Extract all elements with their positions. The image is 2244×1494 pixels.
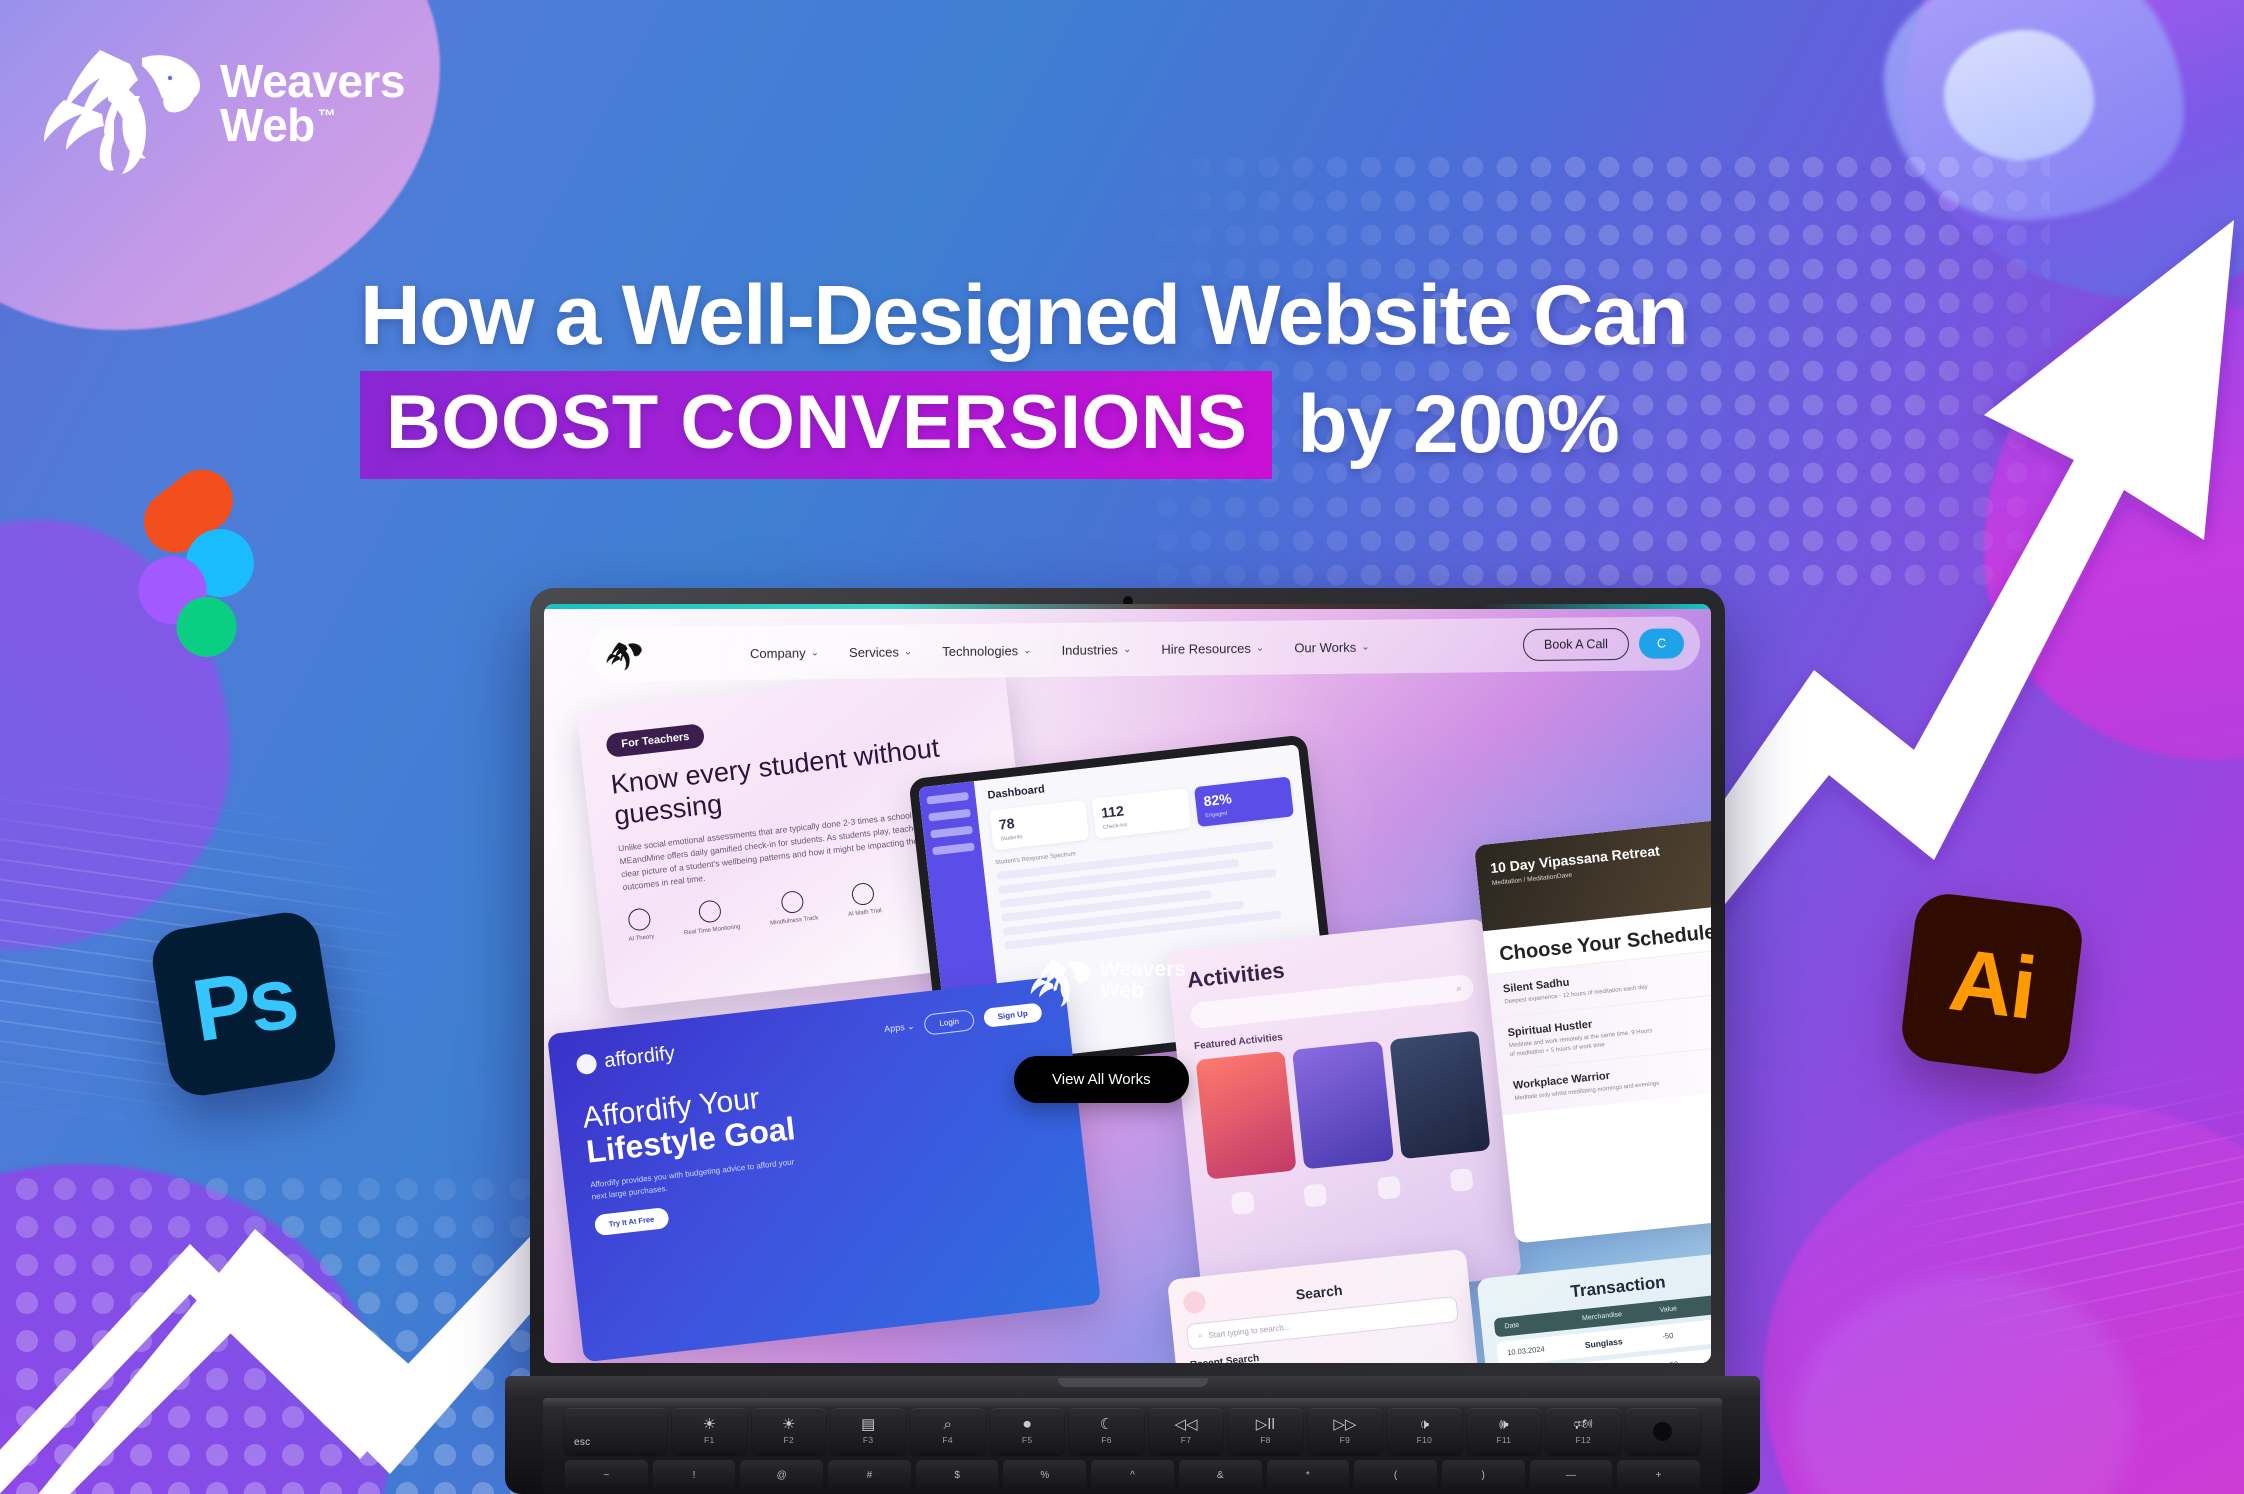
site-watermark-logo: Weavers Web™ (1030, 952, 1186, 1008)
laptop-lid: For Teachers Know every student without … (530, 588, 1725, 1383)
nav-label: Company (750, 645, 806, 661)
key-6[interactable]: ^ (1091, 1460, 1174, 1490)
contact-button[interactable]: C (1639, 628, 1684, 658)
chevron-down-icon: ⌄ (1361, 641, 1370, 652)
mockup-activities-card: Activities ⌕ Featured Activities (1166, 918, 1522, 1309)
key-minus[interactable]: — (1530, 1460, 1613, 1490)
affordify-cta-button[interactable]: Try It At Free (594, 1207, 669, 1236)
laptop-keyboard: esc ☀ F1 ☀ F2 ▤ F3 ⌕ (543, 1398, 1722, 1494)
key-5[interactable]: % (1003, 1460, 1086, 1490)
mindfulness-icon (780, 890, 804, 914)
feature-label: Mindfulness Track (770, 916, 819, 927)
nav-item-company[interactable]: Company ⌄ (750, 645, 819, 661)
key-power[interactable] (1626, 1408, 1700, 1454)
headline-line-2: BOOST CONVERSIONS by 200% (360, 371, 1960, 479)
stat-value: 82% (1203, 790, 1233, 809)
feature-item: Mindfulness Track (767, 889, 819, 927)
watermark-line1: Weavers (1100, 959, 1186, 980)
key-f12[interactable]: 🕬 F12 (1546, 1408, 1620, 1454)
key-label: F2 (783, 1436, 794, 1445)
affordify-brand-name: affordify (603, 1042, 676, 1073)
affordify-brand: affordify (575, 1042, 676, 1076)
photoshop-icon: Ps (148, 908, 340, 1100)
feature-item: AI Math Trial (845, 882, 882, 919)
key-1[interactable]: ! (653, 1460, 736, 1490)
key-f6[interactable]: ☾ F6 (1069, 1408, 1143, 1454)
ai-theory-icon (627, 908, 651, 932)
key-label: F9 (1340, 1436, 1351, 1445)
nav-item-technologies[interactable]: Technologies ⌄ (942, 643, 1031, 659)
tab-saved-icon[interactable] (1377, 1176, 1401, 1200)
banner-canvas: Weavers Web ™ How a Well-Designed Websit… (0, 0, 2244, 1494)
stat-card: 78 Students (989, 800, 1089, 851)
stat-value: 78 (998, 815, 1015, 833)
key-2[interactable]: @ (740, 1460, 823, 1490)
spotlight-search-icon: ⌕ (943, 1417, 951, 1433)
transaction-value: +50 (1665, 1353, 1711, 1363)
rewind-icon: ◁◁ (1174, 1417, 1197, 1433)
feature-label: AI Math Trial (848, 908, 882, 918)
nav-label: Hire Resources (1161, 640, 1251, 656)
nav-label: Technologies (942, 643, 1018, 659)
decorative-blob-top-right-pale (1944, 30, 2094, 160)
key-7[interactable]: & (1179, 1460, 1262, 1490)
search-icon: ⌕ (1456, 983, 1462, 994)
activities-card-grid (1196, 1031, 1491, 1180)
activity-card[interactable] (1196, 1051, 1297, 1180)
affordify-nav: Apps ⌄ Login Sign Up (883, 1001, 1043, 1040)
key-f4[interactable]: ⌕ F4 (910, 1408, 984, 1454)
chat-icon (698, 900, 722, 924)
brand-logo: Weavers Web ™ (42, 34, 405, 174)
stat-value: 112 (1100, 802, 1124, 820)
mockup-affordify-card: affordify Apps ⌄ Login Sign Up Affordify… (547, 976, 1101, 1363)
nav-label: Our Works (1294, 639, 1356, 655)
nav-label: Services (849, 644, 899, 660)
search-placeholder: Start typing to search... (1208, 1322, 1291, 1340)
key-label: F7 (1181, 1436, 1192, 1445)
key-f11[interactable]: 🕪 F11 (1467, 1408, 1541, 1454)
mission-control-icon: ▤ (861, 1417, 875, 1433)
site-navbar: Company ⌄ Services ⌄ Technologies ⌄ (590, 616, 1701, 682)
key-plus[interactable]: + (1617, 1460, 1700, 1490)
keyboard-number-row: ~ ! @ # $ % ^ & * ( ) — + (543, 1454, 1722, 1490)
key-f7[interactable]: ◁◁ F7 (1149, 1408, 1223, 1454)
touch-id-icon (1653, 1422, 1672, 1441)
stat-card: 112 Check-ins (1092, 788, 1192, 839)
key-3[interactable]: # (828, 1460, 911, 1490)
column-value: Value (1659, 1299, 1711, 1314)
key-label: esc (574, 1438, 590, 1449)
feature-item: AI Theory (625, 907, 654, 943)
key-tilde[interactable]: ~ (565, 1460, 648, 1490)
key-label: F1 (704, 1436, 715, 1445)
key-f5[interactable]: ⏺ F5 (990, 1408, 1064, 1454)
fast-forward-icon: ▷▷ (1333, 1417, 1356, 1433)
nav-item-our-works[interactable]: Our Works ⌄ (1294, 639, 1369, 655)
laptop-base: esc ☀ F1 ☀ F2 ▤ F3 ⌕ (505, 1376, 1760, 1494)
key-label: F6 (1101, 1436, 1112, 1445)
key-label: F8 (1260, 1436, 1271, 1445)
sidebar-item (932, 843, 975, 856)
affordify-logo-icon (575, 1053, 597, 1075)
brightness-up-icon: ☀ (782, 1417, 795, 1433)
decorative-lines-right (1884, 1054, 2244, 1374)
chevron-down-icon: ⌄ (811, 647, 820, 658)
feature-item: Real Time Monitoring (681, 898, 741, 937)
teachers-badge: For Teachers (605, 723, 705, 758)
do-not-disturb-icon: ☾ (1100, 1417, 1113, 1433)
view-all-works-button[interactable]: View All Works (1014, 1056, 1189, 1103)
laptop-hinge (1058, 1378, 1208, 1387)
watermark-line2: Web (1100, 979, 1144, 1002)
screen-top-accent (544, 604, 1711, 609)
chevron-down-icon: ⌄ (904, 646, 913, 657)
key-esc[interactable]: esc (565, 1408, 667, 1454)
key-label: F5 (1022, 1436, 1033, 1445)
sidebar-item (930, 826, 973, 839)
stat-card: 82% Engaged (1194, 776, 1294, 827)
key-label: F10 (1417, 1436, 1433, 1445)
math-icon (851, 882, 875, 906)
website-mockup: For Teachers Know every student without … (544, 604, 1711, 1363)
affordify-apps-link[interactable]: Apps ⌄ (884, 1021, 916, 1035)
play-pause-icon: ▷ǀǀ (1256, 1417, 1275, 1433)
mockup-schedule-card: 10 Day Vipassana Retreat Meditation / Me… (1474, 814, 1711, 1243)
bird-logo-icon[interactable] (606, 637, 644, 671)
key-9[interactable]: ( (1354, 1460, 1437, 1490)
dictation-icon: ⏺ (1023, 1417, 1031, 1433)
brand-trademark: ™ (318, 108, 336, 125)
navbar-actions: Book A Call C (1523, 627, 1684, 661)
key-0[interactable]: ) (1442, 1460, 1525, 1490)
navbar-menu: Company ⌄ Services ⌄ Technologies ⌄ (750, 639, 1370, 660)
key-f8[interactable]: ▷ǀǀ F8 (1228, 1408, 1302, 1454)
affordify-login-button[interactable]: Login (923, 1009, 975, 1035)
transaction-date: 10.03.2024 (1507, 1340, 1586, 1358)
keyboard-function-row: esc ☀ F1 ☀ F2 ▤ F3 ⌕ (543, 1398, 1722, 1454)
watermark-tm: ™ (1144, 982, 1152, 991)
sidebar-item (928, 809, 971, 822)
key-label: F12 (1576, 1436, 1592, 1445)
highlight-band: BOOST CONVERSIONS (360, 371, 1272, 479)
key-8[interactable]: * (1267, 1460, 1350, 1490)
brightness-down-icon: ☀ (703, 1417, 716, 1433)
nav-item-services[interactable]: Services ⌄ (849, 644, 912, 660)
tab-profile-icon[interactable] (1450, 1168, 1474, 1192)
column-date: Date (1504, 1315, 1582, 1330)
brand-name-line2: Web (220, 104, 315, 148)
key-f3[interactable]: ▤ F3 (831, 1408, 905, 1454)
photoshop-icon-label: Ps (186, 946, 302, 1063)
nav-item-hire-resources[interactable]: Hire Resources ⌄ (1161, 640, 1264, 656)
key-f10[interactable]: 🕩 F10 (1387, 1408, 1461, 1454)
headline-tail-text: by 200% (1298, 384, 1619, 466)
feature-label: Real Time Monitoring (684, 924, 741, 936)
activity-card[interactable] (1292, 1041, 1393, 1170)
headline-line-1: How a Well-Designed Website Can (360, 272, 1960, 359)
brand-logo-text: Weavers Web ™ (220, 60, 405, 147)
headline-highlight-text: BOOST CONVERSIONS (386, 380, 1248, 465)
key-label: F11 (1496, 1436, 1511, 1445)
laptop-device: For Teachers Know every student without … (505, 588, 1760, 1494)
volume-down-icon: 🕪 (1499, 1417, 1508, 1433)
key-f1[interactable]: ☀ F1 (672, 1408, 746, 1454)
key-f9[interactable]: ▷▷ F9 (1308, 1408, 1382, 1454)
column-merchandise: Merchandise (1582, 1307, 1660, 1322)
key-label: F4 (942, 1436, 953, 1445)
sidebar-item (926, 792, 969, 805)
key-4[interactable]: $ (916, 1460, 999, 1490)
illustrator-icon: Ai (1898, 890, 2085, 1077)
figma-icon (103, 462, 282, 668)
headline-block: How a Well-Designed Website Can BOOST CO… (360, 272, 1960, 479)
chevron-down-icon: ⌄ (1123, 644, 1132, 655)
key-f2[interactable]: ☀ F2 (752, 1408, 826, 1454)
transaction-item: Dress (1587, 1361, 1666, 1363)
mute-icon: 🕩 (1420, 1417, 1429, 1433)
bird-logo-icon (42, 34, 210, 174)
illustrator-icon-label: Ai (1944, 928, 2040, 1039)
bird-logo-icon (1030, 952, 1094, 1008)
chevron-down-icon: ⌄ (1256, 642, 1265, 653)
brand-name-line1: Weavers (220, 60, 405, 104)
chevron-down-icon: ⌄ (1023, 645, 1032, 656)
key-label: F3 (863, 1436, 874, 1445)
laptop-screen: For Teachers Know every student without … (544, 604, 1711, 1363)
tab-home-icon[interactable] (1230, 1191, 1254, 1215)
volume-up-icon: 🕬 (1574, 1417, 1593, 1433)
feature-label: AI Theory (628, 934, 654, 943)
nav-item-industries[interactable]: Industries ⌄ (1061, 642, 1131, 658)
search-icon: ⌕ (1197, 1331, 1203, 1341)
book-a-call-button[interactable]: Book A Call (1523, 628, 1629, 661)
nav-label: Industries (1061, 642, 1118, 658)
transaction-value: -50 (1662, 1324, 1711, 1342)
activity-card[interactable] (1389, 1031, 1490, 1160)
tab-explore-icon[interactable] (1304, 1183, 1328, 1207)
transaction-item: Sunglass (1584, 1332, 1663, 1350)
